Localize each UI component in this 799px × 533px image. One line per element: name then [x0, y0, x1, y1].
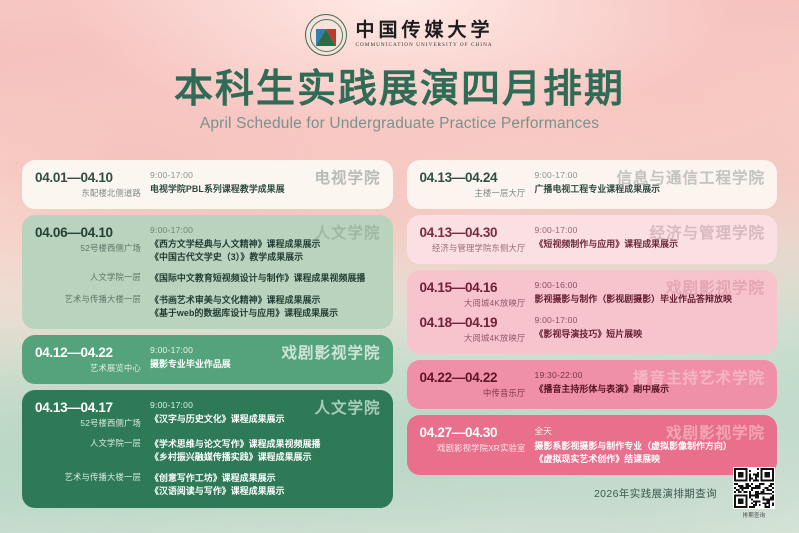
qr-code-icon[interactable] [733, 467, 775, 509]
event-when: 艺术与传播大楼一层 [35, 469, 150, 483]
event-item: 《国际中文教育短视频设计与制作》课程成果视频展播 [150, 272, 380, 285]
event-date-range: 04.06—04.10 [35, 225, 141, 240]
event-when: 04.13—04.1752号楼西侧广场 [35, 400, 150, 429]
poster-root: 中国传媒大学 COMMUNICATION UNIVERSITY OF CHINA… [0, 0, 799, 533]
university-name-en: COMMUNICATION UNIVERSITY OF CHINA [355, 41, 493, 49]
event-time: 9:00-17:00 [535, 315, 765, 325]
event-date-range: 04.13—04.30 [420, 225, 526, 240]
department-name: 信息与通信工程学院 [616, 166, 765, 188]
event-date-range: 04.13—04.24 [420, 170, 526, 185]
event-item: 《乡村振兴融媒传播实践》课程成果展示 [150, 451, 380, 464]
event-item: 《基于web的数据库设计与应用》课程成果展示 [150, 307, 380, 320]
qr-caption: 排期查询 [743, 511, 766, 519]
event-item: 《中国古代文学史（3）》教学成果展示 [150, 251, 380, 264]
department-name: 电视学院 [314, 166, 380, 188]
department-name: 播音主持艺术学院 [633, 366, 765, 388]
event-date-range: 04.01—04.10 [35, 170, 141, 185]
event-date-range: 04.18—04.19 [420, 315, 526, 330]
schedule-card: 电视学院04.01—04.10东配楼北侧道路9:00-17:00电视学院PBL系… [22, 160, 393, 209]
university-name-block: 中国传媒大学 COMMUNICATION UNIVERSITY OF CHINA [355, 21, 493, 49]
event-date-range: 04.27—04.30 [420, 425, 526, 440]
event-venue: 东配楼北侧道路 [35, 187, 141, 199]
event-venue: 艺术与传播大楼一层 [35, 293, 141, 305]
department-name: 经济与管理学院 [649, 221, 765, 243]
schedule-event-row: 人文学院一层《国际中文教育短视频设计与制作》课程成果视频展播 [35, 269, 380, 285]
event-detail: 《创意写作工坊》课程成果展示《汉语阅读与写作》课程成果展示 [150, 469, 380, 497]
event-venue: 大阅城4K放映厅 [420, 332, 526, 344]
department-name: 人文学院 [314, 396, 380, 418]
event-item-list: 《书画艺术审美与文化精神》课程成果展示《基于web的数据库设计与应用》课程成果展… [150, 294, 380, 319]
event-venue: 人文学院一层 [35, 437, 141, 449]
schedule-column-right: 信息与通信工程学院04.13—04.24主楼一层大厅9:00-17:00广播电视… [407, 160, 778, 508]
event-item-list: 《国际中文教育短视频设计与制作》课程成果视频展播 [150, 272, 380, 285]
event-when: 人文学院一层 [35, 269, 150, 283]
event-item: 《影视导演技巧》短片展映 [535, 328, 765, 341]
schedule-column-left: 电视学院04.01—04.10东配楼北侧道路9:00-17:00电视学院PBL系… [22, 160, 393, 508]
event-item-list: 《影视导演技巧》短片展映 [535, 328, 765, 341]
footer: 2026年实践展演排期查询 排期查询 [594, 467, 777, 519]
schedule-card: 人文学院04.13—04.1752号楼西侧广场9:00-17:00《汉字与历史文… [22, 390, 393, 508]
event-venue: 主楼一层大厅 [420, 187, 526, 199]
event-date-range: 04.12—04.22 [35, 345, 141, 360]
event-detail: 《学术思维与论文写作》课程成果视频展播《乡村振兴融媒传播实践》课程成果展示 [150, 435, 380, 463]
page-title: 本科生实践展演四月排期 [0, 68, 799, 112]
event-when: 04.15—04.16大阅城4K放映厅 [420, 280, 535, 309]
schedule-columns: 电视学院04.01—04.10东配楼北侧道路9:00-17:00电视学院PBL系… [0, 160, 799, 508]
schedule-event-row: 艺术与传播大楼一层《创意写作工坊》课程成果展示《汉语阅读与写作》课程成果展示 [35, 469, 380, 497]
department-name: 戏剧影视学院 [666, 421, 765, 443]
event-venue: 艺术与传播大楼一层 [35, 471, 141, 483]
event-venue: 中传音乐厅 [420, 387, 526, 399]
department-name: 戏剧影视学院 [281, 341, 380, 363]
event-item-list: 《创意写作工坊》课程成果展示《汉语阅读与写作》课程成果展示 [150, 472, 380, 497]
event-date-range: 04.15—04.16 [420, 280, 526, 295]
event-when: 04.13—04.24主楼一层大厅 [420, 170, 535, 199]
event-when: 04.13—04.30经济与管理学院东侧大厅 [420, 225, 535, 254]
schedule-card: 戏剧影视学院04.12—04.22艺术展览中心9:00-17:00摄影专业毕业作… [22, 335, 393, 384]
qr-block[interactable]: 排期查询 [731, 467, 777, 519]
event-venue: 大阅城4K放映厅 [420, 297, 526, 309]
event-item: 《学术思维与论文写作》课程成果视频展播 [150, 438, 380, 451]
event-when: 04.12—04.22艺术展览中心 [35, 345, 150, 374]
schedule-event-row: 人文学院一层《学术思维与论文写作》课程成果视频展播《乡村振兴融媒传播实践》课程成… [35, 435, 380, 463]
event-venue: 人文学院一层 [35, 271, 141, 283]
event-venue: 52号楼西侧广场 [35, 417, 141, 429]
qr-code-svg [734, 468, 774, 508]
event-item: 《书画艺术审美与文化精神》课程成果展示 [150, 294, 380, 307]
event-detail: 《书画艺术审美与文化精神》课程成果展示《基于web的数据库设计与应用》课程成果展… [150, 291, 380, 319]
event-when: 04.01—04.10东配楼北侧道路 [35, 170, 150, 199]
event-item: 《汉语阅读与写作》课程成果展示 [150, 485, 380, 498]
event-date-range: 04.22—04.22 [420, 370, 526, 385]
event-detail: 9:00-17:00《影视导演技巧》短片展映 [535, 315, 765, 341]
schedule-event-row: 艺术与传播大楼一层《书画艺术审美与文化精神》课程成果展示《基于web的数据库设计… [35, 291, 380, 319]
event-item-list: 摄影系影视摄影与制作专业（虚拟影像制作方向）《虚拟现实艺术创作》结课展映 [535, 440, 765, 465]
page-subtitle: April Schedule for Undergraduate Practic… [0, 115, 799, 133]
schedule-card: 信息与通信工程学院04.13—04.24主楼一层大厅9:00-17:00广播电视… [407, 160, 778, 209]
event-item-list: 《学术思维与论文写作》课程成果视频展播《乡村振兴融媒传播实践》课程成果展示 [150, 438, 380, 463]
event-venue: 戏剧影视学院XR实验室 [420, 442, 526, 454]
event-item: 《虚拟现实艺术创作》结课展映 [535, 453, 765, 466]
schedule-card: 戏剧影视学院04.15—04.16大阅城4K放映厅9:00-16:00影视摄影与… [407, 270, 778, 354]
schedule-event-row: 04.18—04.19大阅城4K放映厅9:00-17:00《影视导演技巧》短片展… [420, 315, 765, 344]
department-name: 戏剧影视学院 [666, 276, 765, 298]
event-item: 《创意写作工坊》课程成果展示 [150, 472, 380, 485]
schedule-card: 播音主持艺术学院04.22—04.22中传音乐厅19:30-22:00《播音主持… [407, 360, 778, 409]
university-name-cn: 中国传媒大学 [355, 21, 493, 41]
event-when: 人文学院一层 [35, 435, 150, 449]
event-detail: 《国际中文教育短视频设计与制作》课程成果视频展播 [150, 269, 380, 285]
poster-header: 中国传媒大学 COMMUNICATION UNIVERSITY OF CHINA… [0, 0, 799, 133]
department-name: 人文学院 [314, 221, 380, 243]
schedule-card: 经济与管理学院04.13—04.30经济与管理学院东侧大厅9:00-17:00《… [407, 215, 778, 264]
university-logo: 中国传媒大学 COMMUNICATION UNIVERSITY OF CHINA [0, 0, 799, 56]
footer-label: 2026年实践展演排期查询 [594, 486, 717, 501]
event-when: 艺术与传播大楼一层 [35, 291, 150, 305]
event-venue: 经济与管理学院东侧大厅 [420, 242, 526, 254]
event-when: 04.18—04.19大阅城4K放映厅 [420, 315, 535, 344]
schedule-card: 人文学院04.06—04.1052号楼西侧广场9:00-17:00《西方文学经典… [22, 215, 393, 329]
event-venue: 艺术展览中心 [35, 362, 141, 374]
event-date-range: 04.13—04.17 [35, 400, 141, 415]
event-when: 04.22—04.22中传音乐厅 [420, 370, 535, 399]
event-when: 04.06—04.1052号楼西侧广场 [35, 225, 150, 254]
event-when: 04.27—04.30戏剧影视学院XR实验室 [420, 425, 535, 454]
event-venue: 52号楼西侧广场 [35, 242, 141, 254]
university-emblem-icon [305, 14, 347, 56]
